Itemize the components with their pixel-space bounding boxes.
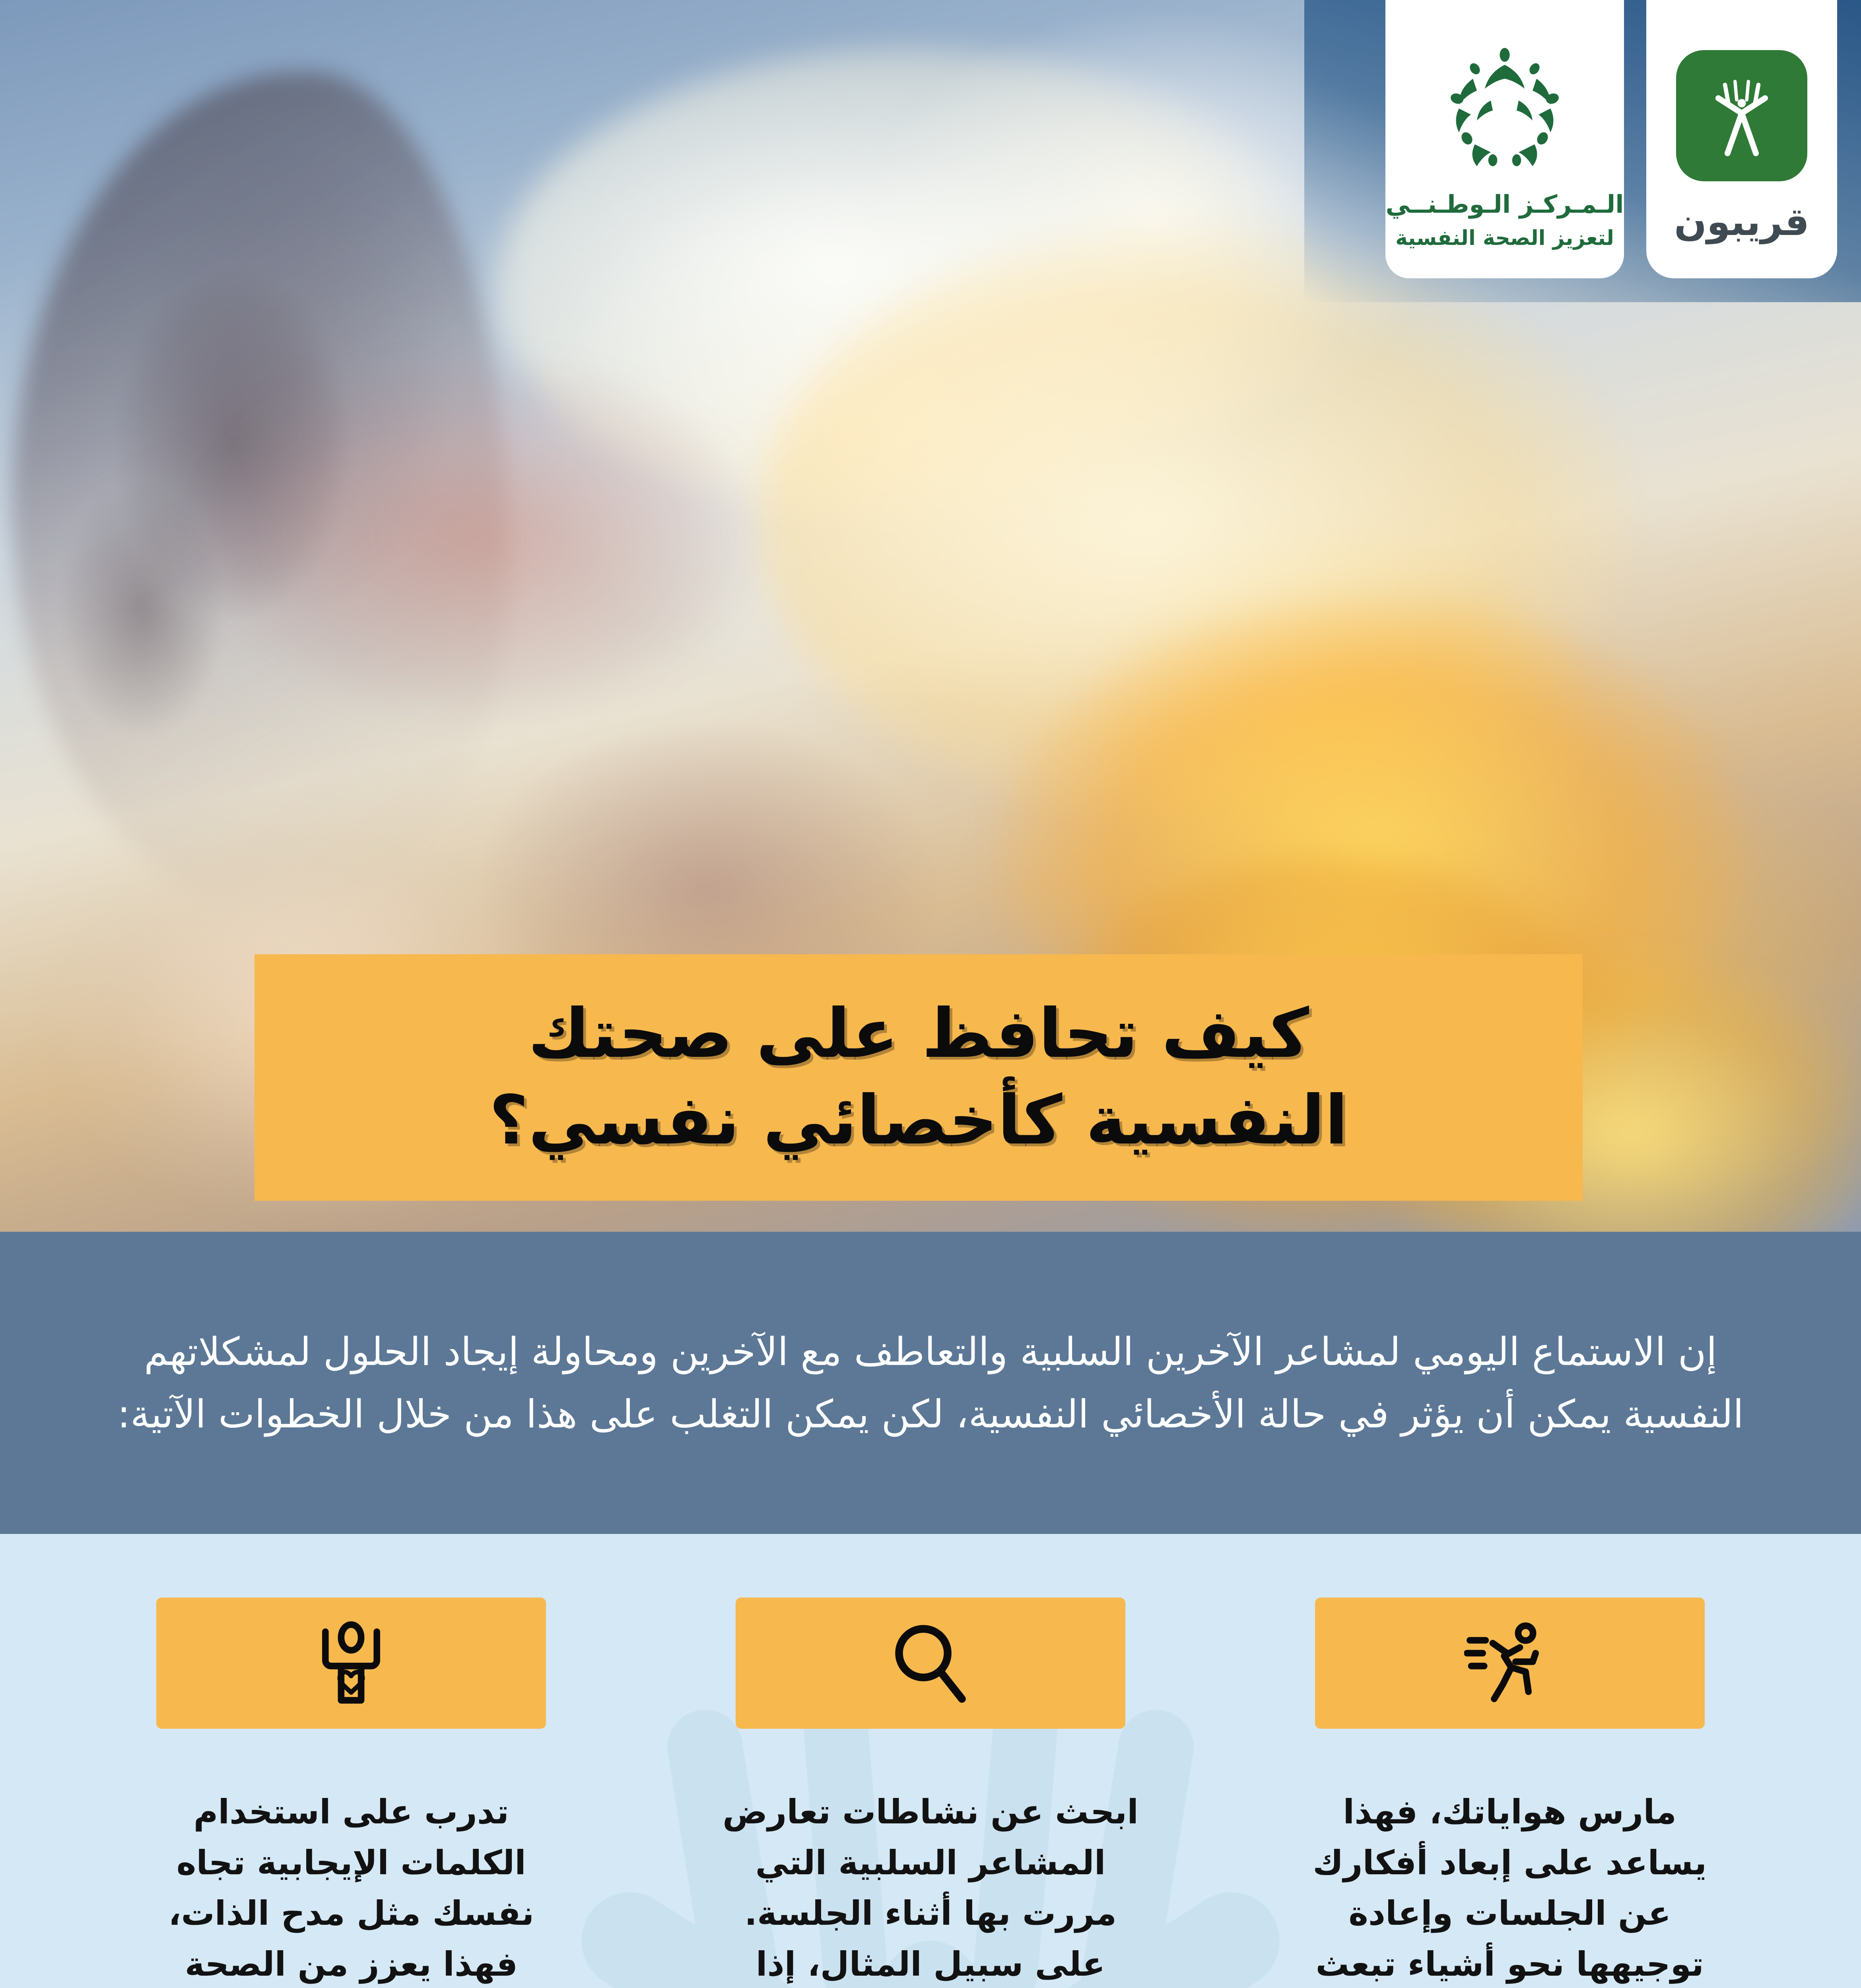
title-banner: كيف تحافظ على صحتك النفسية كأخصائي نفسي؟ [254, 954, 1583, 1201]
tips-section: مارس هواياتك، فهذا يساعد على إبعاد أفكار… [0, 1534, 1861, 1988]
logo-label-national-center: الـمـركـز الـوطـنــي لتعزيز الصحة النفسي… [1385, 186, 1624, 254]
person-raised-arms-logo-icon [1676, 50, 1807, 181]
logo-bar: قريبون [1385, 0, 1837, 278]
person-heart-icon [156, 1598, 546, 1729]
logo-card-qareeboon: قريبون [1646, 0, 1837, 278]
running-person-icon [1315, 1598, 1705, 1729]
tip-card-positive-words: تدرب على استخدام الكلمات الإيجابية تجاه … [84, 1598, 619, 1988]
cloud-shape [199, 358, 756, 716]
tip-card-hobbies: مارس هواياتك، فهذا يساعد على إبعاد أفكار… [1242, 1598, 1777, 1988]
tip-text: تدرب على استخدام الكلمات الإيجابية تجاه … [140, 1787, 562, 1988]
tips-grid: مارس هواياتك، فهذا يساعد على إبعاد أفكار… [0, 1534, 1861, 1988]
logo-label-line2: لتعزيز الصحة النفسية [1385, 223, 1624, 254]
logo-label-qareeboon: قريبون [1674, 200, 1809, 244]
page-title-line1: كيف تحافظ على صحتك [528, 991, 1309, 1077]
tip-card-counter-activities: ابحث عن نشاطات تعارض المشاعر السلبية الت… [663, 1598, 1199, 1988]
intro-band: إن الاستماع اليومي لمشاعر الآخرين السلبي… [0, 1232, 1861, 1534]
logo-card-national-center: الـمـركـز الـوطـنــي لتعزيز الصحة النفسي… [1385, 0, 1624, 278]
intro-text: إن الاستماع اليومي لمشاعر الآخرين السلبي… [87, 1320, 1774, 1445]
magnifier-icon [736, 1598, 1125, 1729]
tip-text: ابحث عن نشاطات تعارض المشاعر السلبية الت… [720, 1787, 1141, 1988]
page-title-line2: النفسية كأخصائي نفسي؟ [489, 1077, 1348, 1164]
people-circle-logo-icon [1445, 41, 1564, 172]
logo-label-line1: الـمـركـز الـوطـنــي [1385, 186, 1624, 223]
tip-text: مارس هواياتك، فهذا يساعد على إبعاد أفكار… [1299, 1787, 1721, 1988]
